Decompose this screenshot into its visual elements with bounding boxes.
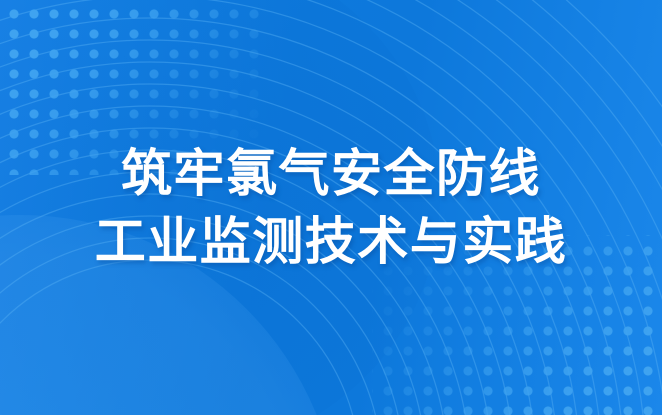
title-line-1: 筑牢氯气安全防线: [121, 144, 541, 204]
title-line-2: 工业监测技术与实践: [95, 212, 568, 272]
banner-slide: 筑牢氯气安全防线 工业监测技术与实践: [0, 0, 662, 415]
title-block: 筑牢氯气安全防线 工业监测技术与实践: [0, 0, 662, 415]
